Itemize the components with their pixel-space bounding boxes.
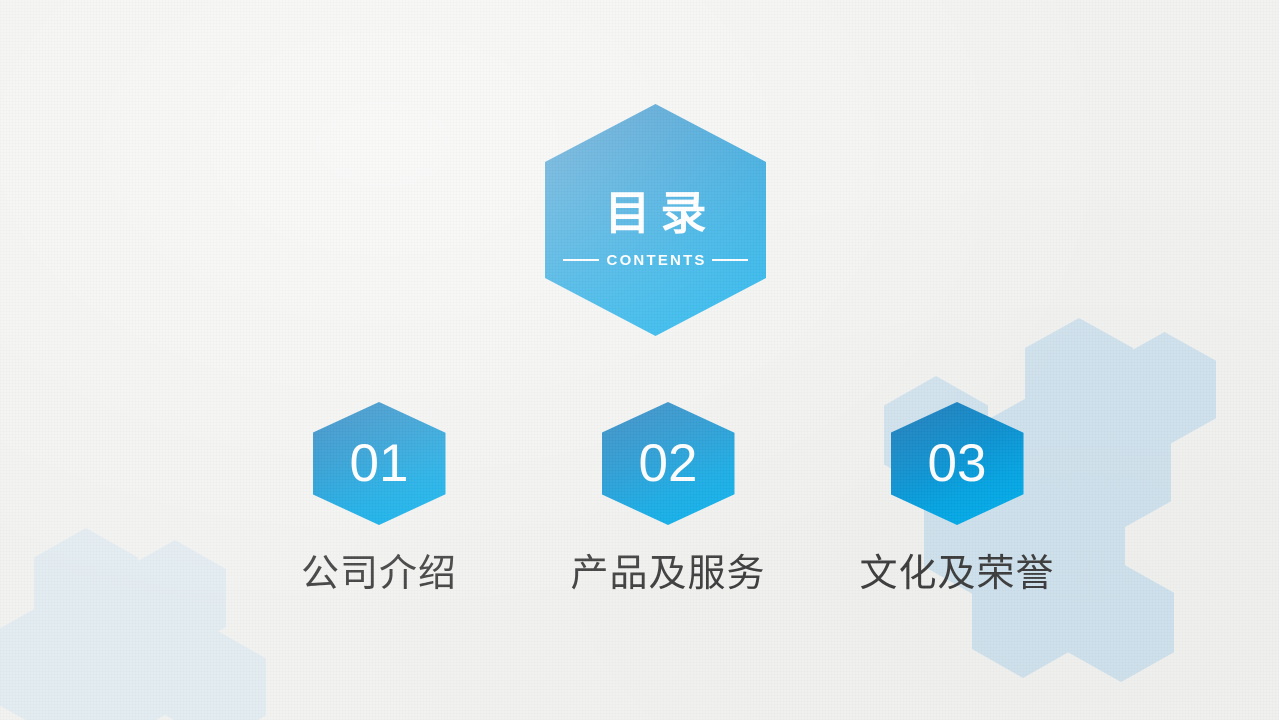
contents-rule-left	[563, 259, 599, 261]
contents-rule-right	[712, 259, 748, 261]
agenda-label-03: 文化及荣誉	[842, 554, 1072, 592]
agenda-label-01: 公司介绍	[264, 554, 494, 592]
agenda-number-hexagon-01[interactable]: 01	[313, 402, 446, 525]
decorative-honeycomb-layer	[0, 0, 1279, 720]
presentation-slide: 目录 CONTENTS 01 公司介绍 02 产品及服务 03 文化及荣誉	[0, 0, 1279, 720]
contents-title: 目录	[595, 190, 717, 236]
contents-subtitle: CONTENTS	[599, 252, 711, 269]
agenda-item-01[interactable]: 01 公司介绍	[264, 402, 494, 592]
agenda-number-hexagon-02[interactable]: 02	[602, 402, 735, 525]
contents-subtitle-row: CONTENTS	[561, 252, 751, 269]
agenda-number-03: 03	[928, 437, 987, 490]
agenda-number-hexagon-03[interactable]: 03	[891, 402, 1024, 525]
agenda-number-02: 02	[639, 437, 698, 490]
agenda-item-03[interactable]: 03 文化及荣誉	[842, 402, 1072, 592]
agenda-label-02: 产品及服务	[553, 554, 783, 592]
agenda-number-01: 01	[350, 437, 409, 490]
agenda-item-02[interactable]: 02 产品及服务	[553, 402, 783, 592]
